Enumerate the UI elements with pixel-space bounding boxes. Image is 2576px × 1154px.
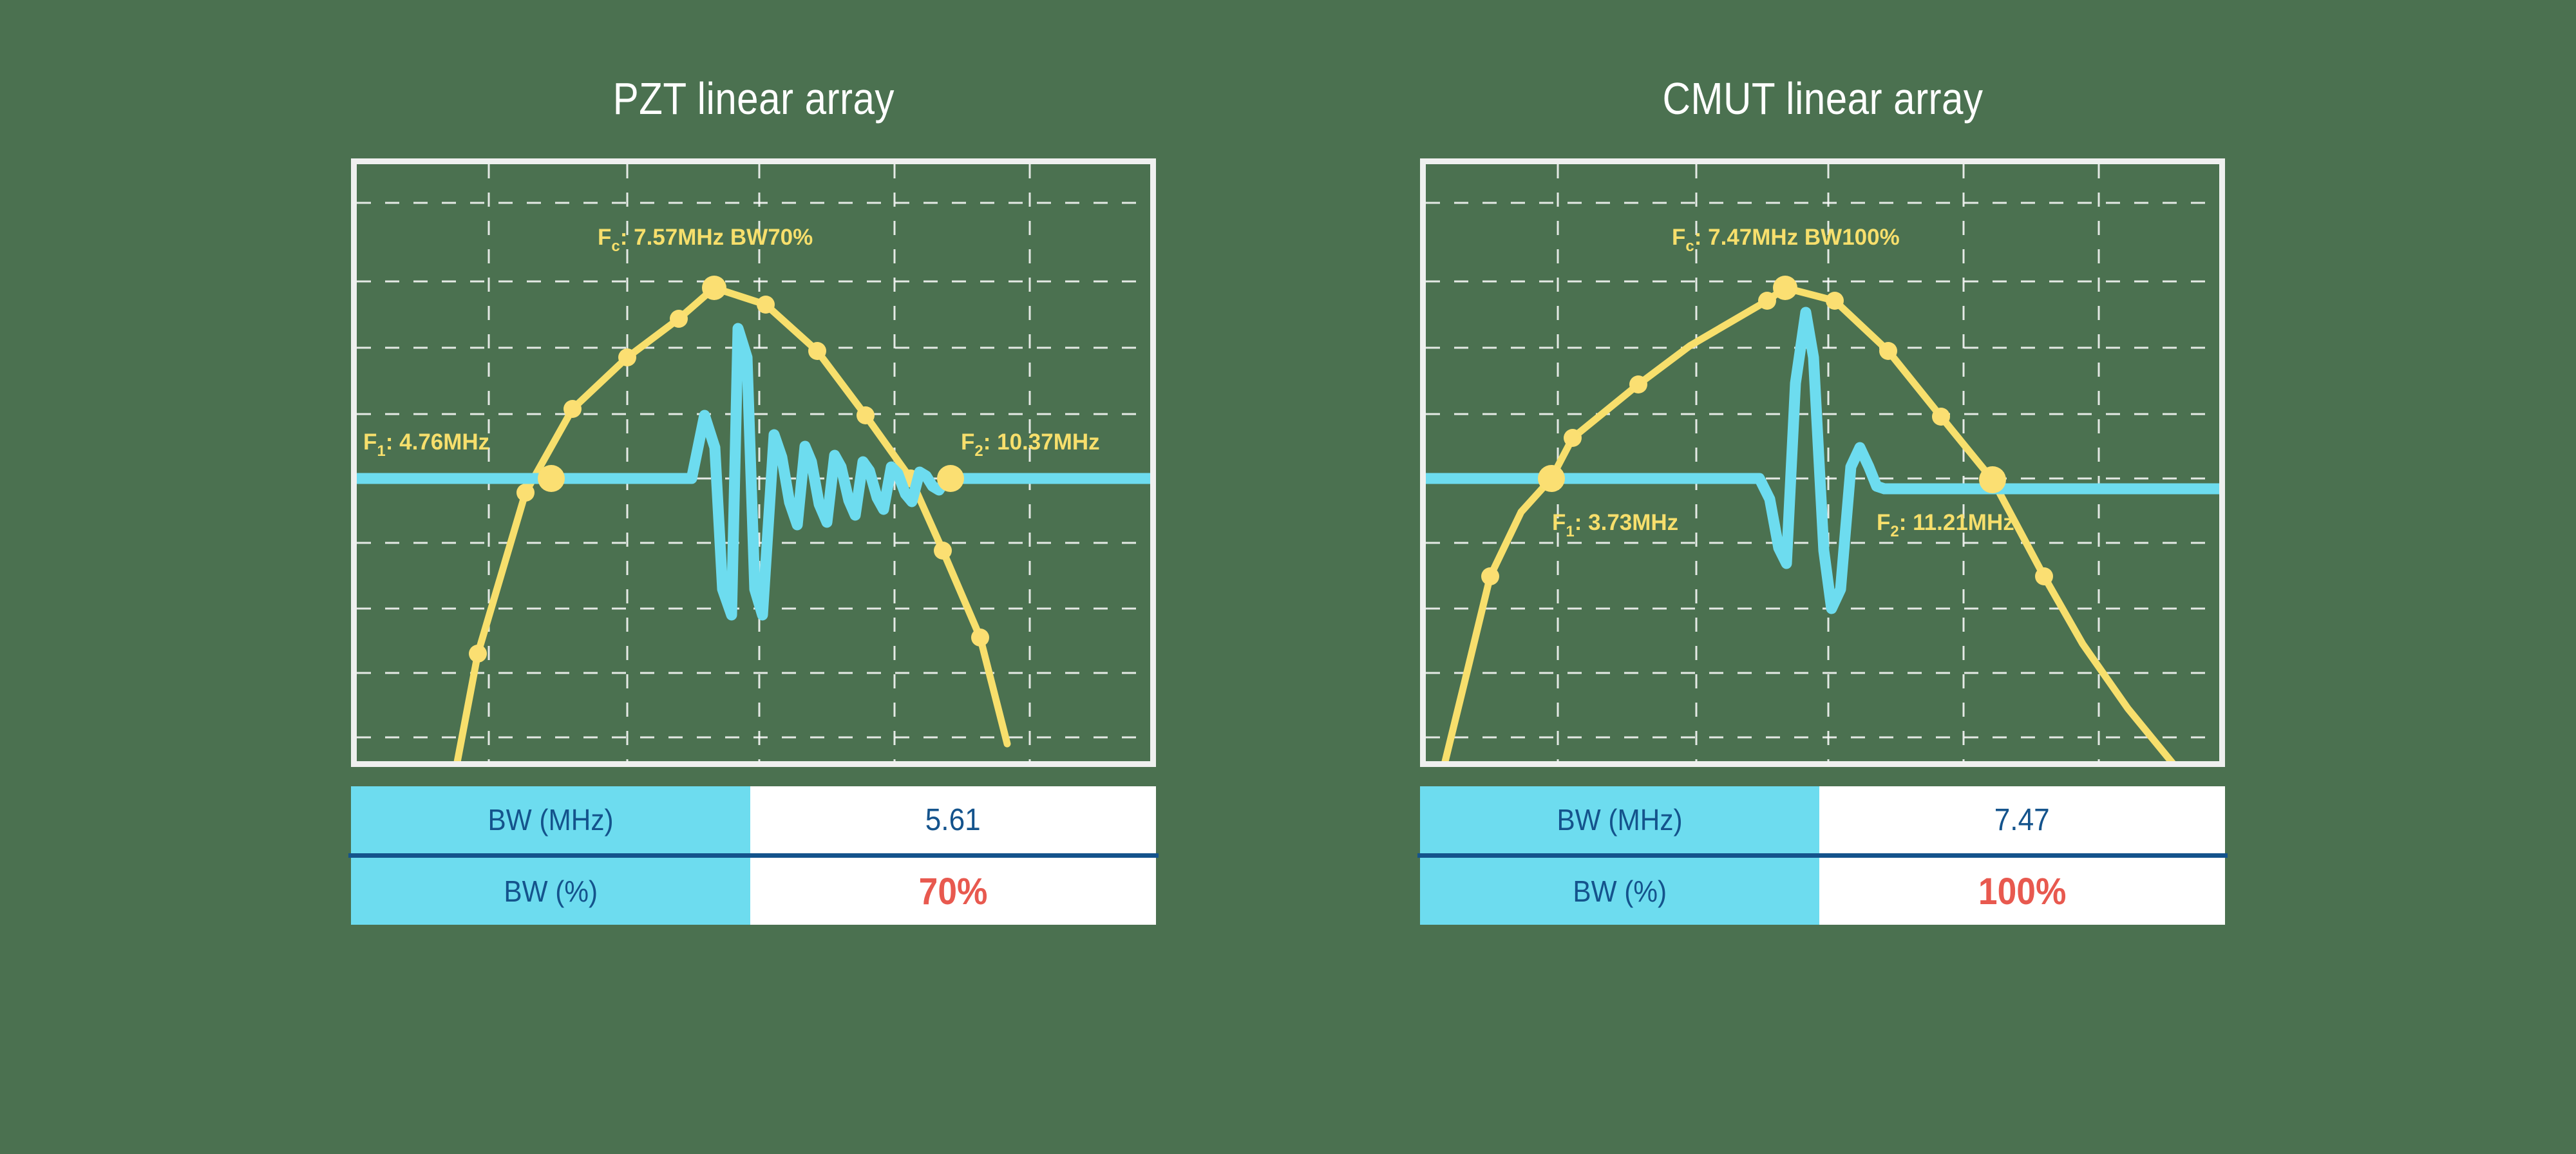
chart-plot-pzt: Fc: 7.57MHz BW70% F1: 4.76MHz F2: 10.37M… [351,158,1156,767]
page-title-pzt: PZT linear array [612,76,894,121]
bw-table-wrap-cmut: BW (MHz) 7.47 BW (%) 100% [1420,786,2225,925]
bw-pct-value-text-pzt: 70% [919,870,988,913]
marker-f1-cmut [1538,465,1565,492]
bw-pct-label-text-pzt: BW (%) [504,874,598,909]
table-divider-pzt [348,853,1159,858]
bw-mhz-value-text-pzt: 5.61 [925,802,981,838]
marker-fc-pzt [702,276,726,300]
figure-canvas: PZT linear array [0,0,2576,1154]
bw-pct-label-text-cmut: BW (%) [1573,874,1667,909]
bw-mhz-label-cmut: BW (MHz) [1420,786,1819,856]
annotation-f1-pzt: F1: 4.76MHz [363,430,489,460]
page-title-cmut: CMUT linear array [1662,76,1983,121]
pulse-waveform-pzt [357,328,1150,615]
annotation-f2-cmut: F2: 11.21MHz [1877,510,2014,540]
bw-table-wrap-pzt: BW (MHz) 5.61 BW (%) 70% [351,786,1156,925]
panel-cmut: CMUT linear array [1401,0,2244,925]
bw-mhz-label-text-pzt: BW (MHz) [488,802,613,837]
bw-pct-label-pzt: BW (%) [351,856,750,925]
bw-pct-value-cmut: 100% [1819,856,2225,925]
annotation-f1-cmut: F1: 3.73MHz [1552,510,1678,540]
panel-pzt: PZT linear array [332,0,1175,925]
chart-svg-cmut: Fc: 7.47MHz BW100% F1: 3.73MHz F2: 11.21… [1426,164,2219,761]
marker-f2-pzt [937,465,964,492]
marker-fc-cmut [1773,276,1797,300]
table-row: BW (MHz) 7.47 [1420,786,2225,856]
bw-pct-value-text-cmut: 100% [1978,870,2066,913]
bw-mhz-value-pzt: 5.61 [750,786,1156,856]
table-row: BW (%) 100% [1420,856,2225,925]
bw-mhz-label-pzt: BW (MHz) [351,786,750,856]
marker-f2-cmut [1979,466,2006,493]
annotation-fc-pzt: Fc: 7.57MHz BW70% [598,225,813,255]
annotation-fc-cmut: Fc: 7.47MHz BW100% [1672,225,1900,255]
chart-svg-pzt: Fc: 7.57MHz BW70% F1: 4.76MHz F2: 10.37M… [357,164,1150,761]
pulse-waveform-cmut [1426,312,2219,609]
bw-mhz-value-cmut: 7.47 [1819,786,2225,856]
bw-pct-value-pzt: 70% [750,856,1156,925]
table-divider-cmut [1417,853,2228,858]
panel-row: PZT linear array [0,0,2576,1154]
chart-plot-cmut: Fc: 7.47MHz BW100% F1: 3.73MHz F2: 11.21… [1420,158,2225,767]
bw-mhz-label-text-cmut: BW (MHz) [1557,802,1682,837]
table-row: BW (MHz) 5.61 [351,786,1156,856]
bw-mhz-value-text-cmut: 7.47 [1994,802,2050,838]
marker-f1-pzt [538,465,565,492]
table-row: BW (%) 70% [351,856,1156,925]
bw-pct-label-cmut: BW (%) [1420,856,1819,925]
